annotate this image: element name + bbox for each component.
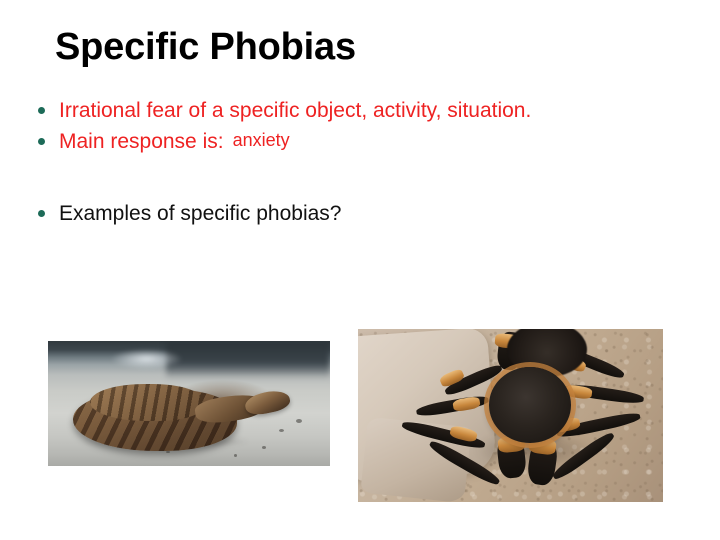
bullet-text-2: Main response is: [59,130,224,153]
bullet-dot-icon [38,98,59,114]
snake-body-upper-coil [90,384,203,422]
bullet-text-3: Examples of specific phobias? [59,201,638,226]
bullet-text-2-wrap: Main response is:anxiety [59,129,638,155]
bullet-spacer [38,161,638,201]
bullet-dot-icon [38,201,59,217]
list-item: Irrational fear of a specific object, ac… [38,98,638,123]
slide: Specific Phobias Irrational fear of a sp… [0,0,720,540]
snake-photo-highlight [110,349,183,369]
list-item: Examples of specific phobias? [38,201,638,226]
bullet-text-1: Irrational fear of a specific object, ac… [59,98,638,123]
snake-photo-background-band [166,341,330,379]
bullet-dot-icon [38,129,59,145]
tarantula-photo [358,329,663,502]
answer-anxiety: anxiety [224,130,290,150]
bullet-list: Irrational fear of a specific object, ac… [38,98,638,232]
page-title: Specific Phobias [55,26,356,69]
list-item: Main response is:anxiety [38,129,638,155]
tarantula-cephalothorax [489,367,571,443]
snake-head [244,388,293,418]
snake-photo [48,341,330,466]
